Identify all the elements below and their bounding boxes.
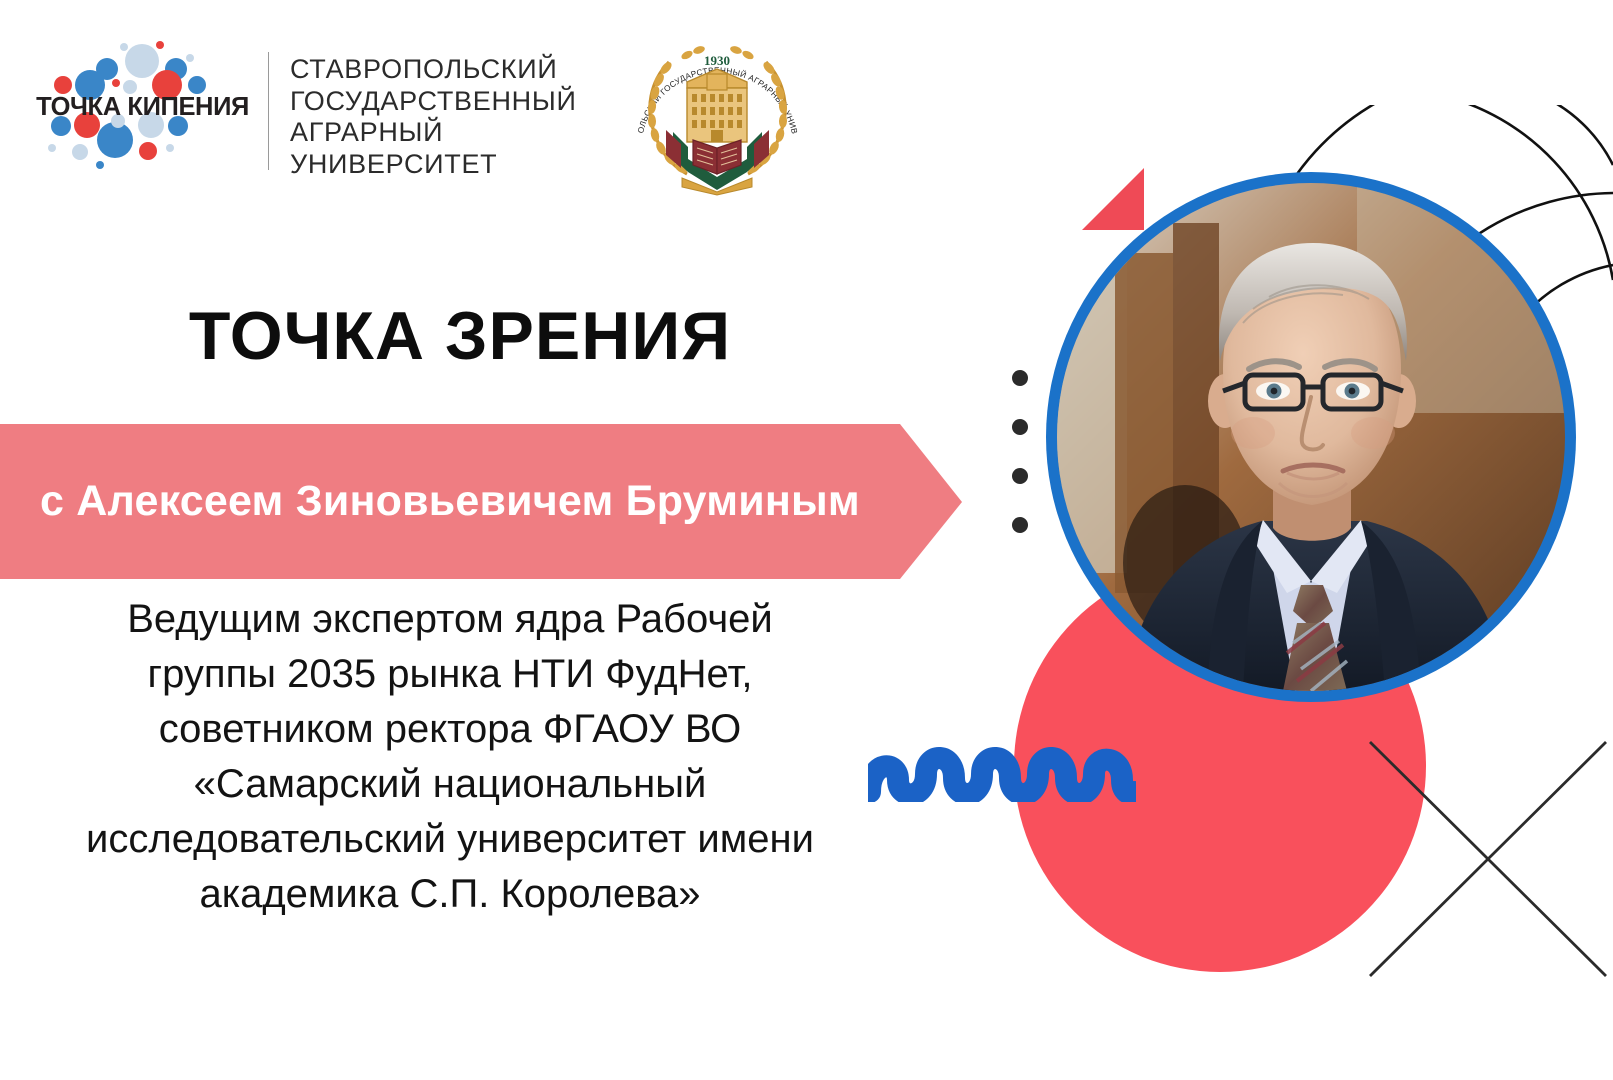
poster-canvas: ТОЧКА КИПЕНИЯ СТАВРОПОЛЬСКИЙ ГОСУДАРСТВЕ… <box>0 0 1613 1080</box>
speaker-name-text: с Алексеем Зиновьевичем Бруминым <box>0 424 900 579</box>
blue-wave-icon <box>868 730 1136 802</box>
portrait-photo <box>1057 183 1565 691</box>
page-title: ТОЧКА ЗРЕНИЯ <box>0 297 920 375</box>
university-name-line-1: СТАВРОПОЛЬСКИЙ <box>290 54 577 86</box>
description-line-3: советником ректора ФГАОУ ВО <box>20 702 880 757</box>
university-name-line-2: ГОСУДАРСТВЕННЫЙ <box>290 86 577 118</box>
x-cross-icon <box>1368 740 1608 978</box>
university-name-line-4: УНИВЕРСИТЕТ <box>290 149 577 181</box>
description-line-2: группы 2035 рынка НТИ ФудНет, <box>20 647 880 702</box>
university-emblem: СТАВРОПОЛЬСКИЙ ГОСУДАРСТВЕННЫЙ АГРАРНЫЙ … <box>625 22 810 197</box>
dots-column <box>1012 370 1030 535</box>
university-name-line-3: АГРАРНЫЙ <box>290 117 577 149</box>
dot-icon <box>1012 370 1028 386</box>
dot-icon <box>1012 517 1028 533</box>
description-line-5: исследовательский университет имени <box>20 812 880 867</box>
speaker-name-banner: с Алексеем Зиновьевичем Бруминым <box>0 424 962 579</box>
dot-icon <box>1012 419 1028 435</box>
logo-divider <box>268 52 269 170</box>
description-line-6: академика С.П. Королева» <box>20 867 880 922</box>
university-name: СТАВРОПОЛЬСКИЙ ГОСУДАРСТВЕННЫЙ АГРАРНЫЙ … <box>290 54 577 180</box>
description-line-1: Ведущим экспертом ядра Рабочей <box>20 592 880 647</box>
svg-text:1930: 1930 <box>704 53 730 68</box>
description-block: Ведущим экспертом ядра Рабочей группы 20… <box>20 592 880 922</box>
portrait-container <box>1046 172 1576 702</box>
university-emblem-icon: СТАВРОПОЛЬСКИЙ ГОСУДАРСТВЕННЫЙ АГРАРНЫЙ … <box>625 22 810 197</box>
boiling-point-logo: ТОЧКА КИПЕНИЯ <box>30 30 255 180</box>
portrait-clip <box>1057 183 1565 691</box>
description-line-4: «Самарский национальный <box>20 757 880 812</box>
dot-icon <box>1012 468 1028 484</box>
boiling-point-wordmark: ТОЧКА КИПЕНИЯ <box>30 93 255 122</box>
